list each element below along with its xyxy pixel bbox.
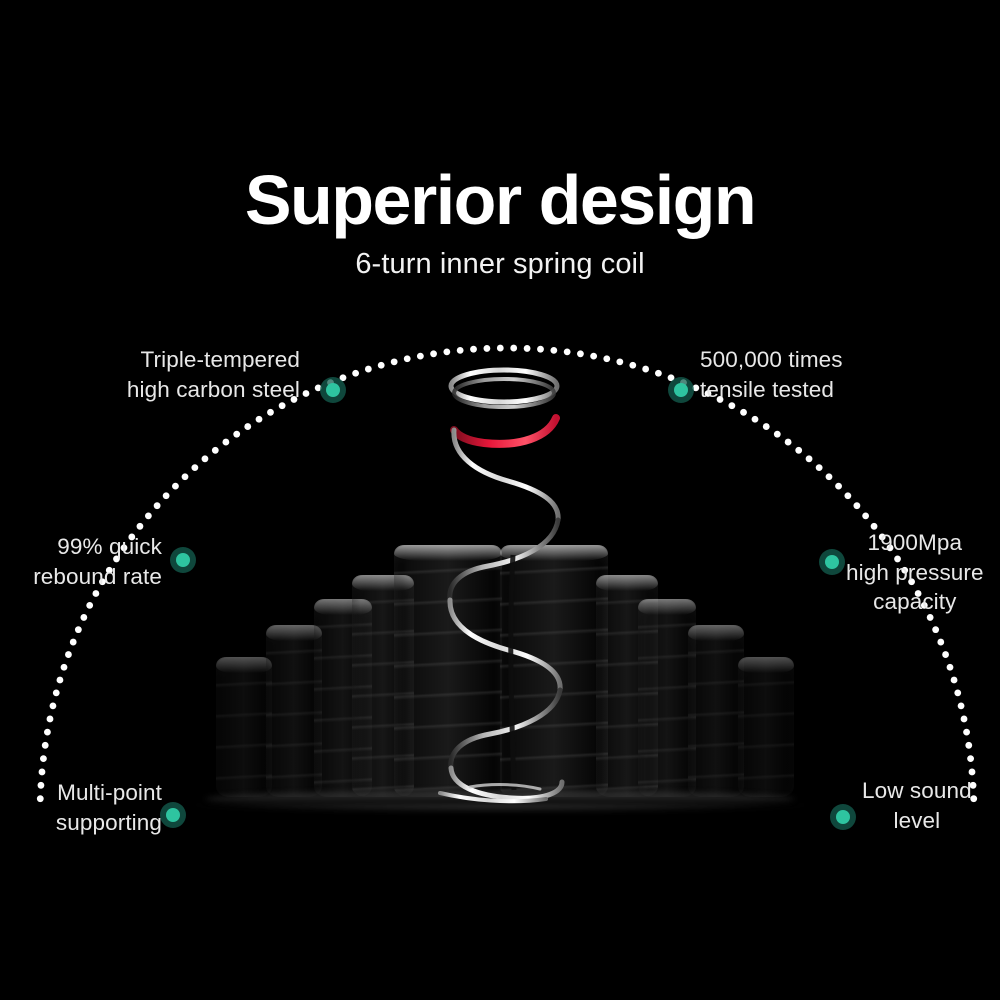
arc-dot — [795, 447, 802, 454]
arc-dot — [61, 664, 68, 671]
arc-dot — [44, 729, 51, 736]
arc-dot — [222, 439, 229, 446]
feature-label-low-sound-level: Low sound level — [862, 776, 972, 835]
arc-dot — [577, 350, 584, 357]
arc-dot — [497, 345, 504, 352]
arc-dot — [947, 664, 954, 671]
arc-dot — [42, 742, 49, 749]
feature-marker-tensile-tested[interactable] — [674, 383, 688, 397]
arc-dot — [352, 370, 359, 377]
arc-dot — [233, 431, 240, 438]
arc-dot — [391, 358, 398, 365]
arc-dot — [752, 416, 759, 423]
arc-dot — [937, 639, 944, 646]
arc-dot — [954, 689, 961, 696]
arc-dot — [163, 492, 170, 499]
arc-dot — [40, 755, 47, 762]
arc-dot — [951, 677, 958, 684]
arc-dot — [642, 366, 649, 373]
arc-dot — [550, 347, 557, 354]
arc-dot — [365, 366, 372, 373]
feature-label-high-pressure: 1900Mpa high pressure capacity — [846, 528, 984, 617]
arc-dot — [967, 755, 974, 762]
arc-dot — [590, 353, 597, 360]
feature-label-multi-point-supporting: Multi-point supporting — [56, 778, 162, 837]
feature-marker-multi-point-supporting[interactable] — [166, 808, 180, 822]
callout-arc-overlay — [0, 0, 1000, 1000]
arc-dot — [629, 362, 636, 369]
arc-dot — [958, 702, 965, 709]
arc-dot — [37, 795, 44, 802]
feature-label-triple-tempered: Triple-tempered high carbon steel — [127, 345, 300, 404]
arc-dot — [404, 355, 411, 362]
arc-dot — [616, 358, 623, 365]
arc-dot — [86, 602, 93, 609]
arc-dot — [47, 716, 54, 723]
feature-marker-low-sound-level[interactable] — [836, 810, 850, 824]
arc-dot — [816, 464, 823, 471]
arc-dot — [942, 651, 949, 658]
arc-dot — [965, 742, 972, 749]
arc-dot — [655, 370, 662, 377]
feature-marker-high-pressure[interactable] — [825, 555, 839, 569]
arc-dot — [932, 626, 939, 633]
arc-dot — [202, 455, 209, 462]
arc-dot — [38, 782, 45, 789]
arc-dot — [70, 639, 77, 646]
arc-dot — [774, 431, 781, 438]
arc-dot — [484, 345, 491, 352]
arc-dot — [65, 651, 72, 658]
arc-dot — [470, 346, 477, 353]
arc-dot — [137, 523, 144, 530]
arc-dot — [443, 348, 450, 355]
infographic-canvas: Superior design 6-turn inner spring coil… — [0, 0, 1000, 1000]
arc-dot — [50, 702, 57, 709]
arc-dot — [303, 390, 310, 397]
marker-group — [160, 377, 856, 830]
arc-dot — [417, 353, 424, 360]
arc-dot — [740, 409, 747, 416]
arc-dot — [430, 350, 437, 357]
arc-dot — [844, 492, 851, 499]
arc-dot — [853, 502, 860, 509]
arc-dot — [244, 423, 251, 430]
arc-dot — [862, 512, 869, 519]
arc-dot — [267, 409, 274, 416]
arc-dot — [191, 464, 198, 471]
arc-dot — [963, 729, 970, 736]
arc-dot — [564, 348, 571, 355]
arc-dot — [835, 483, 842, 490]
arc-dot — [806, 455, 813, 462]
feature-marker-triple-tempered[interactable] — [326, 383, 340, 397]
arc-dot — [80, 614, 87, 621]
arc-dot — [537, 346, 544, 353]
arc-dot — [961, 716, 968, 723]
arc-dot — [256, 416, 263, 423]
arc-dot — [785, 439, 792, 446]
feature-label-quick-rebound: 99% quick rebound rate — [33, 532, 162, 591]
arc-dot — [603, 355, 610, 362]
arc-dot — [57, 677, 64, 684]
arc-dot — [75, 626, 82, 633]
arc-dot — [378, 362, 385, 369]
arc-dot — [457, 347, 464, 354]
arc-dot — [524, 345, 531, 352]
arc-dot — [172, 483, 179, 490]
arc-dot — [145, 512, 152, 519]
arc-dot — [53, 689, 60, 696]
arc-dot — [182, 473, 189, 480]
arc-dot — [969, 769, 976, 776]
arc-dot — [510, 345, 517, 352]
arc-dot — [39, 769, 46, 776]
feature-marker-quick-rebound[interactable] — [176, 553, 190, 567]
arc-dot — [826, 473, 833, 480]
arc-dot — [154, 502, 161, 509]
feature-label-tensile-tested: 500,000 times tensile tested — [700, 345, 843, 404]
arc-dot — [212, 447, 219, 454]
arc-dot — [763, 423, 770, 430]
